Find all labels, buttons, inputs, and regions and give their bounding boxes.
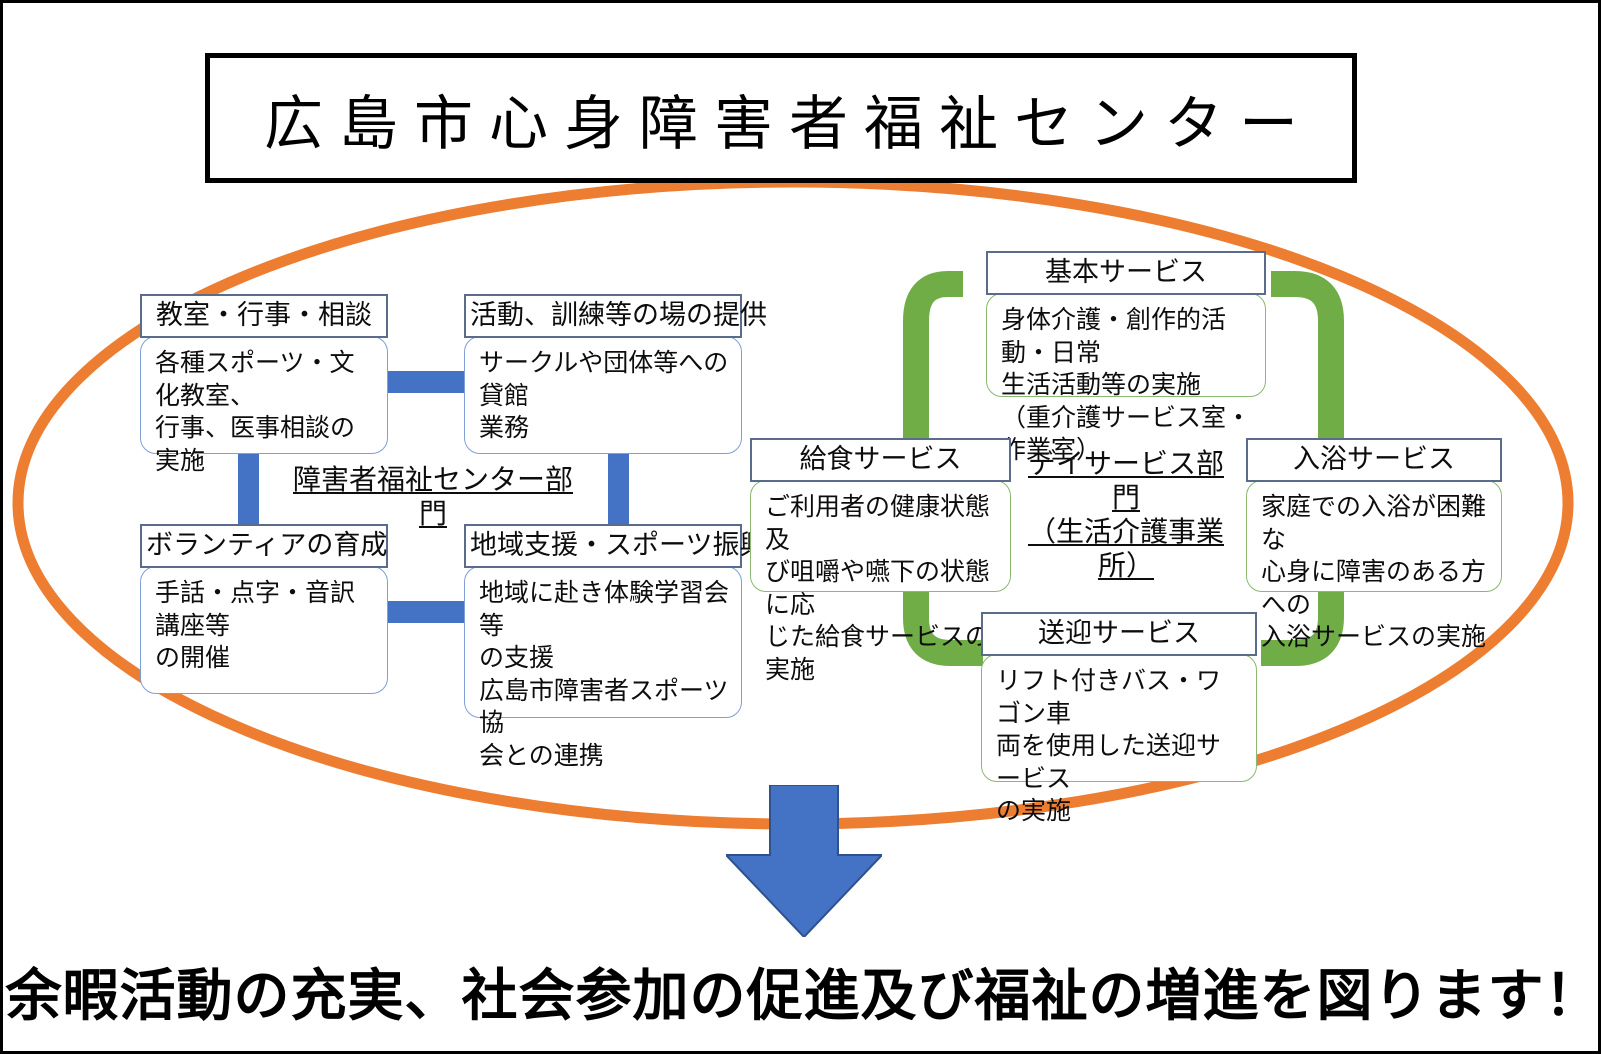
card-body-line: 各種スポーツ・文化教室、: [155, 347, 375, 412]
card-header: 送迎サービス: [981, 612, 1257, 656]
card-body-line: じた給食サービスの実施: [765, 621, 998, 686]
card-community-support-sports: 地域支援・スポーツ振興 地域に赴き体験学習会等 の支援 広島市障害者スポーツ協 …: [464, 524, 742, 718]
connector-horizontal-bottom: [388, 601, 466, 623]
card-body-line: び咀嚼や嚥下の状態に応: [765, 556, 998, 621]
card-header: 活動、訓練等の場の提供: [464, 294, 742, 338]
card-body-line: リフト付きバス・ワゴン車: [996, 665, 1244, 730]
card-header: 給食サービス: [750, 438, 1011, 482]
connector-horizontal-top: [388, 371, 466, 393]
slogan-text: 余暇活動の充実、社会参加の促進及び福祉の増進を図ります！: [3, 951, 1601, 1032]
card-body-line: 生活活動等の実施: [1001, 369, 1253, 402]
card-body: 各種スポーツ・文化教室、 行事、医事相談の実施: [140, 336, 388, 454]
card-body: 手話・点字・音訳講座等 の開催: [140, 566, 388, 694]
card-body: サークルや団体等への貸館 業務: [464, 336, 742, 454]
label-day-service-department: デイサービス部門 （生活介護事業所）: [1016, 447, 1236, 584]
card-classroom-events-consultation: 教室・行事・相談 各種スポーツ・文化教室、 行事、医事相談の実施: [140, 294, 388, 454]
card-body-line: の実施: [996, 795, 1244, 828]
down-arrow-icon: [726, 785, 882, 937]
card-body-line: の開催: [155, 642, 375, 675]
card-header: 入浴サービス: [1246, 438, 1502, 482]
card-body: 家庭での入浴が困難な 心身に障害のある方への 入浴サービスの実施: [1246, 480, 1502, 592]
card-body-line: 家庭での入浴が困難な: [1261, 491, 1489, 556]
card-body-line: 地域に赴き体験学習会等: [479, 577, 729, 642]
card-body-line: 広島市障害者スポーツ協: [479, 675, 729, 740]
card-body-line: 両を使用した送迎サービス: [996, 730, 1244, 795]
label-welfare-center-department: 障害者福祉センター部門: [293, 463, 573, 531]
card-meal-service: 給食サービス ご利用者の健康状態及 び咀嚼や嚥下の状態に応 じた給食サービスの実…: [750, 438, 1011, 592]
label-text-line2: （生活介護事業所）: [1028, 516, 1224, 581]
card-body: リフト付きバス・ワゴン車 両を使用した送迎サービス の実施: [981, 654, 1257, 782]
card-volunteer-development: ボランティアの育成 手話・点字・音訳講座等 の開催: [140, 524, 388, 694]
card-body: ご利用者の健康状態及 び咀嚼や嚥下の状態に応 じた給食サービスの実施: [750, 480, 1011, 592]
card-body: 身体介護・創作的活動・日常 生活活動等の実施 （重介護サービス室・作業室）: [986, 293, 1266, 397]
card-body: 地域に赴き体験学習会等 の支援 広島市障害者スポーツ協 会との連携: [464, 566, 742, 718]
card-body-line: 会との連携: [479, 740, 729, 773]
card-transport-service: 送迎サービス リフト付きバス・ワゴン車 両を使用した送迎サービス の実施: [981, 612, 1257, 782]
diagram-canvas: 広島市心身障害者福祉センター 教室・行事・相談 各種スポーツ・文化教室、 行事、…: [0, 0, 1601, 1054]
card-body-line: 入浴サービスの実施: [1261, 621, 1489, 654]
page-title-box: 広島市心身障害者福祉センター: [205, 53, 1357, 183]
card-body-line: 手話・点字・音訳講座等: [155, 577, 375, 642]
card-body-line: 身体介護・創作的活動・日常: [1001, 304, 1253, 369]
card-basic-service: 基本サービス 身体介護・創作的活動・日常 生活活動等の実施 （重介護サービス室・…: [986, 251, 1266, 397]
card-header: 教室・行事・相談: [140, 294, 388, 338]
page-title: 広島市心身障害者福祉センター: [248, 76, 1314, 161]
card-activity-training-venue: 活動、訓練等の場の提供 サークルや団体等への貸館 業務: [464, 294, 742, 454]
card-body-line: の支援: [479, 642, 729, 675]
card-body-line: サークルや団体等への貸館: [479, 347, 729, 412]
card-body-line: 業務: [479, 412, 729, 445]
card-bath-service: 入浴サービス 家庭での入浴が困難な 心身に障害のある方への 入浴サービスの実施: [1246, 438, 1502, 592]
label-text-line1: デイサービス部門: [1028, 448, 1224, 513]
label-text: 障害者福祉センター部門: [293, 464, 573, 529]
card-body-line: 心身に障害のある方への: [1261, 556, 1489, 621]
card-header: 基本サービス: [986, 251, 1266, 295]
card-body-line: ご利用者の健康状態及: [765, 491, 998, 556]
